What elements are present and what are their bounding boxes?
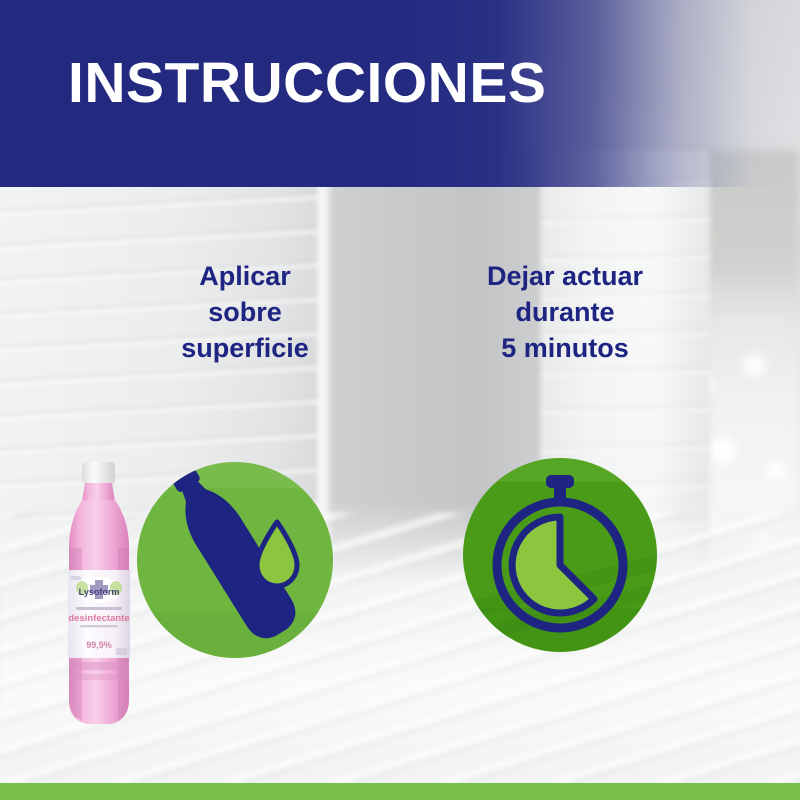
- step-1-label: Aplicar sobre superficie: [145, 258, 345, 367]
- header-band: INSTRUCCIONES: [0, 0, 800, 187]
- step-1-icon-circle: [137, 462, 333, 658]
- instructions-banner: Lysoform desinfectante 99,9%: [0, 0, 800, 800]
- svg-text:Lysoform: Lysoform: [79, 587, 120, 597]
- page-title: INSTRUCCIONES: [68, 55, 546, 112]
- step-2-icon-circle: [463, 458, 657, 652]
- step-2-label: Dejar actuar durante 5 minutos: [455, 258, 675, 367]
- product-bottle: Lysoform desinfectante 99,9%: [58, 462, 140, 730]
- bottom-accent-bar: [0, 783, 800, 800]
- svg-text:99,9%: 99,9%: [86, 640, 112, 650]
- svg-text:desinfectante: desinfectante: [68, 613, 129, 624]
